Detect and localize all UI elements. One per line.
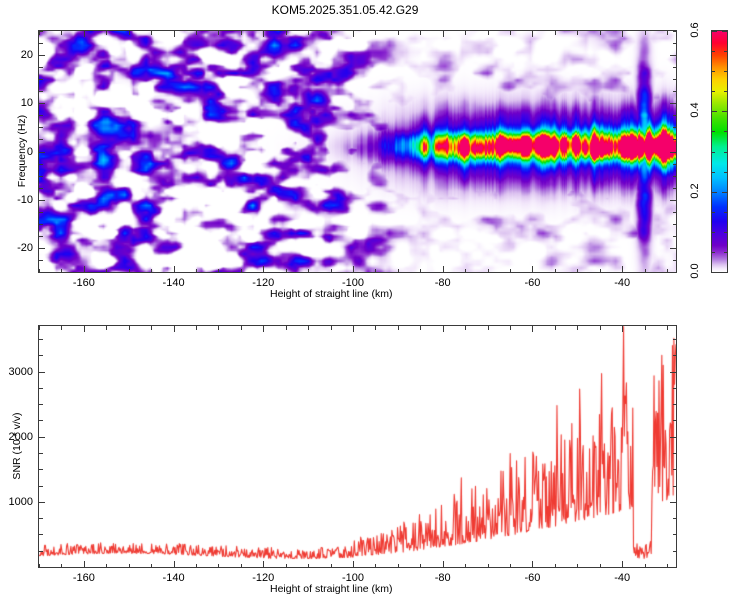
ytick-label: 1000 <box>2 496 33 508</box>
xtick-label: -40 <box>614 277 630 289</box>
figure-root: KOM5.2025.351.05.42.G29 Height of straig… <box>0 0 750 600</box>
ytick-label: 10 <box>2 97 33 109</box>
snr-panel <box>38 325 677 568</box>
xtick-label: -60 <box>524 277 540 289</box>
spectrogram-plot-area <box>39 31 676 272</box>
colorbar-tick-label: 0.2 <box>689 171 701 211</box>
xtick-label: -140 <box>163 277 185 289</box>
ytick-label: 20 <box>2 49 33 61</box>
snr-plot-area <box>39 326 676 567</box>
colorbar <box>711 30 728 273</box>
xtick-label: -100 <box>342 277 364 289</box>
xtick-label: -160 <box>73 277 95 289</box>
colorbar-tick-label: 0.4 <box>689 90 701 130</box>
xtick-label: -40 <box>614 572 630 584</box>
xtick-label: -80 <box>435 277 451 289</box>
xtick-label: -120 <box>252 277 274 289</box>
snr-trace <box>39 326 676 567</box>
xtick-label: -160 <box>73 572 95 584</box>
colorbar-tick-label: 0.6 <box>689 10 701 50</box>
xtick-label: -100 <box>342 572 364 584</box>
ytick-label: 2000 <box>2 431 33 443</box>
ytick-label: -10 <box>2 194 33 206</box>
figure-title: KOM5.2025.351.05.42.G29 <box>0 3 690 17</box>
bottom-yaxis-title: SNR (10 * v/v) <box>11 391 23 501</box>
xtick-label: -80 <box>435 572 451 584</box>
top-xaxis-title: Height of straight line (km) <box>270 288 393 300</box>
spectrogram-image <box>39 31 676 272</box>
ytick-label: 3000 <box>2 366 33 378</box>
xtick-label: -60 <box>524 572 540 584</box>
ytick-label: -20 <box>2 242 33 254</box>
spectrogram-panel <box>38 30 677 273</box>
bottom-xaxis-title: Height of straight line (km) <box>270 583 393 595</box>
ytick-label: 0 <box>2 146 33 158</box>
xtick-label: -120 <box>252 572 274 584</box>
xtick-label: -140 <box>163 572 185 584</box>
colorbar-tick-label: 0.0 <box>689 251 701 291</box>
